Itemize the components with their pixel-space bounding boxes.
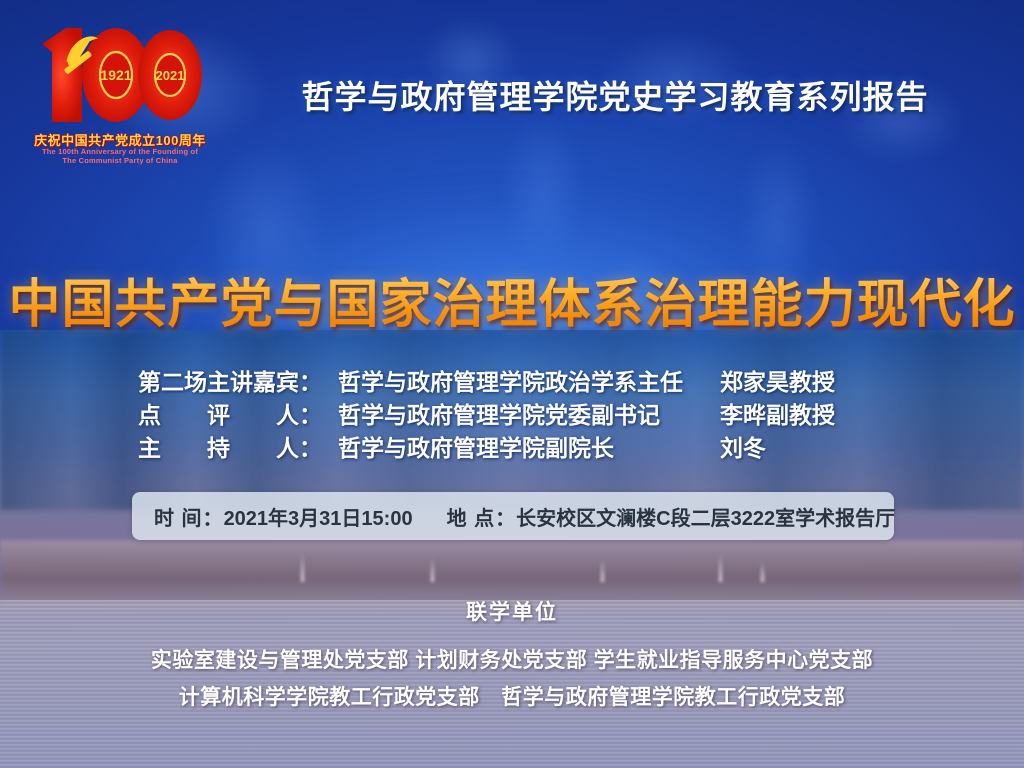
fountain-jet: [760, 560, 765, 582]
cpc-centenary-logo: 1921 2021 庆祝中国共产党成立100周年 The 100th Anniv…: [30, 14, 210, 164]
time-label: 时 间：: [154, 502, 224, 531]
logo-caption-en-line1: The 100th Anniversary of the Founding of: [30, 147, 210, 156]
logo-year-2021: 2021: [156, 68, 185, 83]
person-org: 哲学与政府管理学院副院长: [338, 432, 720, 465]
person-role: 第二场主讲嘉宾：: [138, 366, 338, 399]
person-row: 点 评 人： 哲学与政府管理学院党委副书记 李晔副教授: [138, 399, 898, 432]
place-value: 长安校区文澜楼C段二层3222室学术报告厅: [516, 502, 895, 531]
person-org: 哲学与政府管理学院党委副书记: [338, 399, 720, 432]
person-org: 哲学与政府管理学院政治学系主任: [338, 366, 720, 399]
people-block: 第二场主讲嘉宾： 哲学与政府管理学院政治学系主任 郑家昊教授 点 评 人： 哲学…: [138, 366, 898, 465]
fountain-jet: [718, 552, 723, 582]
logo-100-icon: 1921 2021: [36, 18, 206, 130]
person-role: 主 持 人：: [138, 432, 338, 465]
footer-line: 实验室建设与管理处党支部 计划财务处党支部 学生就业指导服务中心党支部: [0, 642, 1024, 679]
time-place-bar: 时 间： 2021年3月31日15:00 地 点： 长安校区文澜楼C段二层322…: [132, 492, 894, 540]
fountain-jet: [600, 558, 605, 582]
series-title: 哲学与政府管理学院党史学习教育系列报告: [240, 72, 990, 118]
person-role: 点 评 人：: [138, 399, 338, 432]
time-value: 2021年3月31日15:00: [224, 502, 413, 531]
logo-caption-en-line2: The Communist Party of China: [30, 156, 210, 165]
person-name: 郑家昊教授: [720, 366, 898, 399]
fountain-jet: [430, 556, 435, 582]
footer-line: 计算机科学学院教工行政党支部 哲学与政府管理学院教工行政党支部: [0, 679, 1024, 716]
person-name: 李晔副教授: [720, 399, 898, 432]
footer-title: 联学单位: [0, 596, 1024, 626]
person-row: 主 持 人： 哲学与政府管理学院副院长 刘冬: [138, 432, 898, 465]
event-poster: 1921 2021 庆祝中国共产党成立100周年 The 100th Anniv…: [0, 0, 1024, 768]
page-title: 中国共产党与国家治理体系治理能力现代化: [0, 262, 1024, 337]
logo-caption-en: The 100th Anniversary of the Founding of…: [30, 147, 210, 165]
fountain-jet: [300, 552, 305, 582]
footer-block: 联学单位 实验室建设与管理处党支部 计划财务处党支部 学生就业指导服务中心党支部…: [0, 596, 1024, 716]
person-row: 第二场主讲嘉宾： 哲学与政府管理学院政治学系主任 郑家昊教授: [138, 366, 898, 399]
logo-year-1921: 1921: [100, 67, 131, 83]
place-label: 地 点：: [447, 502, 517, 531]
person-name: 刘冬: [720, 432, 898, 465]
